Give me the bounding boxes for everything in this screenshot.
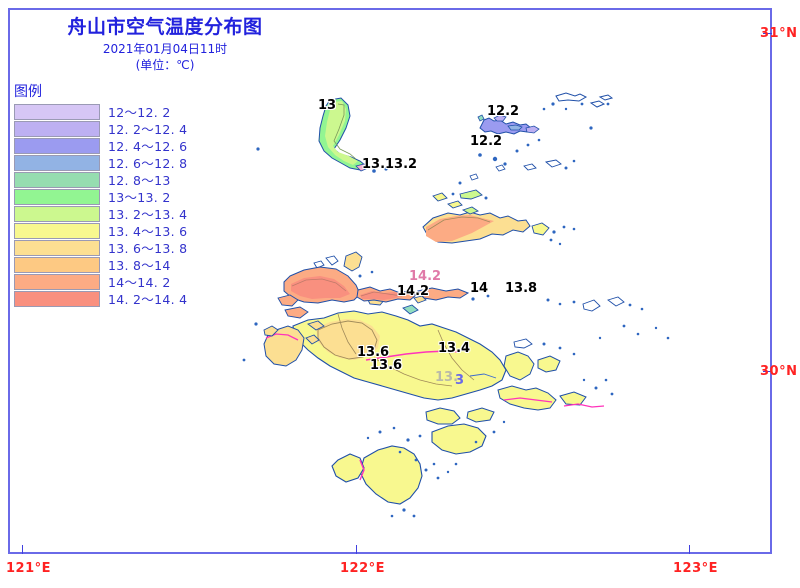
legend-swatch (14, 104, 100, 120)
longitude-tick (356, 545, 357, 554)
island-shape (426, 408, 460, 424)
screenshot-root: 舟山市空气温度分布图 2021年01月04日11时 (单位：℃) 图例 12～1… (0, 0, 800, 588)
contour-value-label: 13.8 (505, 281, 537, 296)
contour-value-label: 3 (455, 373, 464, 388)
islet (591, 101, 604, 107)
island-group-south (332, 408, 505, 517)
title-unit: (单位：℃) (20, 57, 310, 73)
legend-swatch (14, 121, 100, 137)
legend-swatch (14, 223, 100, 239)
island-shape (504, 352, 534, 380)
legend-heading: 图例 (14, 84, 187, 100)
islet (583, 300, 600, 311)
legend-item: 13. 2～13. 4 (14, 205, 187, 222)
legend-swatch (14, 155, 100, 171)
legend-rows: 12～12. 212. 2～12. 412. 4～12. 612. 6～12. … (14, 103, 187, 307)
page-title: 舟山市空气温度分布图 (20, 16, 310, 38)
island-group-daishan (423, 201, 575, 245)
island-shape (360, 446, 422, 504)
longitude-axis-label: 123°E (673, 561, 718, 576)
legend-item: 13. 6～13. 8 (14, 239, 187, 256)
islet (344, 252, 362, 271)
islet (478, 115, 484, 121)
longitude-tick (689, 545, 690, 554)
island-shape (538, 356, 560, 372)
contour-value-label: 12.2 (487, 104, 519, 119)
longitude-axis-label: 121°E (6, 561, 51, 576)
islet (403, 305, 418, 314)
latitude-axis-label: 31°N (760, 26, 797, 41)
islet (556, 93, 586, 101)
island-group-far-islets (599, 325, 670, 340)
legend-swatch (14, 172, 100, 188)
islet (460, 190, 482, 199)
legend-item: 12. 4～12. 6 (14, 137, 187, 154)
islet (608, 297, 624, 306)
legend-swatch (14, 240, 100, 256)
title-block: 舟山市空气温度分布图 2021年01月04日11时 (单位：℃) (20, 16, 310, 73)
island-shape (432, 424, 486, 454)
island-group-northeast-islets (543, 93, 612, 130)
contour-value-label: 13 (318, 98, 336, 113)
islet (532, 223, 549, 235)
longitude-tick (22, 545, 23, 554)
islet (448, 201, 462, 208)
contour-value-label: 14.2 (409, 269, 441, 284)
island-group-jintang (278, 267, 643, 318)
island-group-shengsi (459, 115, 541, 185)
contour-value-label: 13.6 (370, 358, 402, 373)
islet (285, 307, 308, 318)
legend-swatch (14, 257, 100, 273)
contour-value-label: 13. (362, 157, 385, 172)
islet (546, 160, 561, 167)
legend-item: 13～13. 2 (14, 188, 187, 205)
island-group-mid-islets (433, 160, 575, 201)
legend-item-label: 14. 2～14. 4 (108, 289, 187, 308)
legend-item: 12～12. 2 (14, 103, 187, 120)
island-shape (332, 454, 364, 482)
islet (326, 256, 338, 265)
legend: 图例 12～12. 212. 2～12. 412. 4～12. 612. 6～1… (14, 84, 187, 307)
contour-value-label: 13.4 (438, 341, 470, 356)
island-shape (467, 408, 494, 422)
legend-item: 13. 4～13. 6 (14, 222, 187, 239)
legend-item: 14. 2～14. 4 (14, 290, 187, 307)
island-main-zhoushan (293, 311, 506, 400)
legend-swatch (14, 189, 100, 205)
island-shape (480, 118, 531, 134)
islet (524, 164, 536, 170)
contour-value-label: 13.2 (385, 157, 417, 172)
title-datetime: 2021年01月04日11时 (20, 41, 310, 57)
island-group-putuo (498, 339, 613, 410)
legend-swatch (14, 274, 100, 290)
islet (600, 95, 612, 100)
legend-item: 13. 8～14 (14, 256, 187, 273)
legend-item: 12. 2～12. 4 (14, 120, 187, 137)
legend-swatch (14, 206, 100, 222)
latitude-axis-label: 30°N (760, 364, 797, 379)
legend-swatch (14, 291, 100, 307)
legend-item: 12. 6～12. 8 (14, 154, 187, 171)
longitude-axis-label: 122°E (340, 561, 385, 576)
islet (560, 392, 586, 405)
island-shape (498, 386, 556, 410)
legend-item: 12. 8～13 (14, 171, 187, 188)
islet (514, 339, 532, 348)
islet (433, 193, 447, 201)
contour-value-label: 14 (470, 281, 488, 296)
contour-value-label: 12.2 (470, 134, 502, 149)
legend-item: 14～14. 2 (14, 273, 187, 290)
contour-value-label: 14.2 (397, 284, 429, 299)
legend-swatch (14, 138, 100, 154)
